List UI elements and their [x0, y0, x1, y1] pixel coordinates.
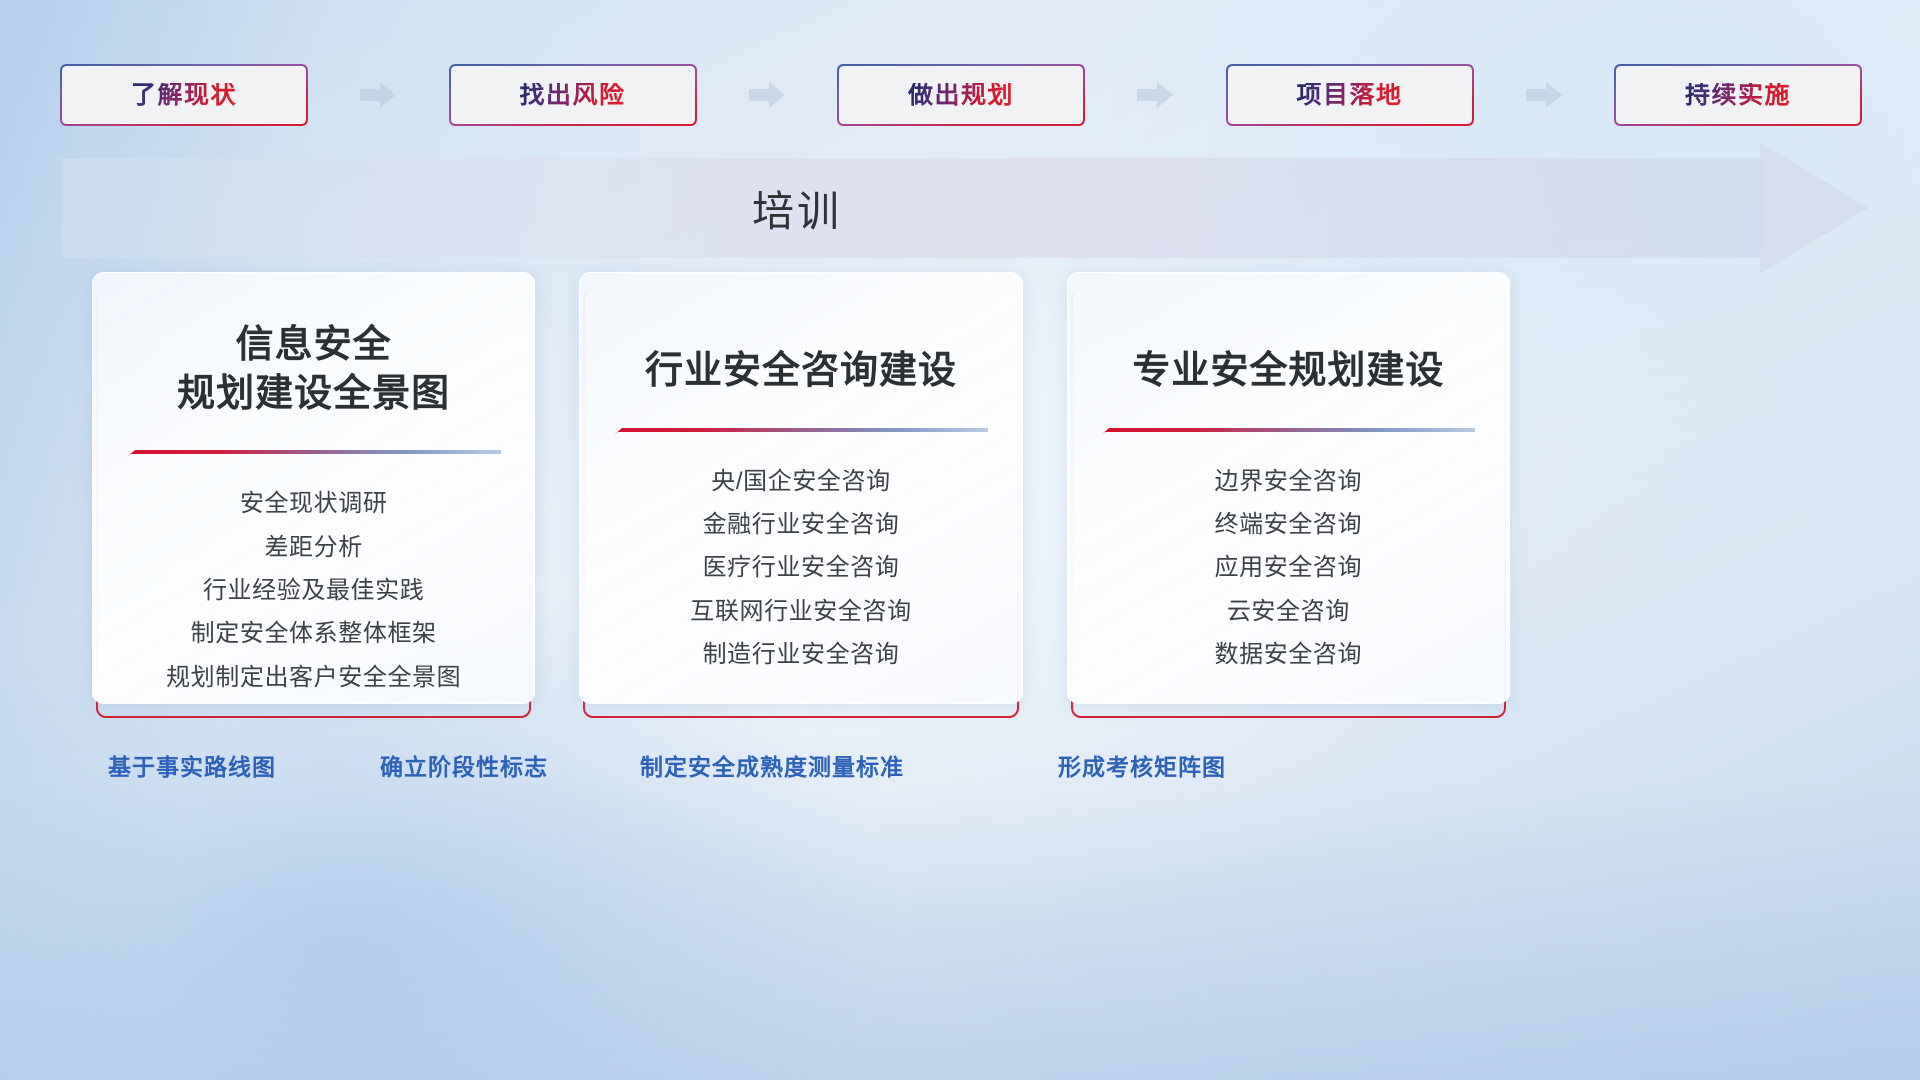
process-step-row: 了解现状 找出风险 做出规划: [60, 64, 1862, 126]
step-arrow-4: [1474, 82, 1615, 108]
footer-label-1: 基于事实路线图: [108, 748, 276, 782]
list-item: 制造行业安全咨询: [703, 639, 900, 671]
step-box-3[interactable]: 做出规划: [837, 64, 1085, 126]
arrow-right-icon: [1526, 82, 1562, 108]
slide-canvas: 了解现状 找出风险 做出规划: [0, 0, 1920, 1080]
gradient-wedge-divider: [127, 446, 501, 462]
card-3[interactable]: 专业安全规划建设: [1067, 272, 1510, 718]
list-item: 差距分析: [264, 532, 362, 564]
list-item: 行业经验及最佳实践: [203, 575, 424, 607]
step-label: 了解现状: [131, 83, 237, 108]
card-2[interactable]: 行业安全咨询建设: [579, 272, 1022, 718]
card-item-list: 央/国企安全咨询 金融行业安全咨询 医疗行业安全咨询 互联网行业安全咨询 制造行…: [608, 466, 993, 672]
card-title-line: 专业安全规划建设: [1132, 347, 1444, 396]
footer-label-2: 确立阶段性标志: [380, 748, 548, 782]
footer-label-4: 形成考核矩阵图: [1058, 748, 1226, 782]
footer-label-row: 基于事实路线图 确立阶段性标志 制定安全成熟度测量标准 形成考核矩阵图: [0, 748, 1920, 788]
banner-arrow-right-icon: [1760, 142, 1868, 274]
arrow-right-icon: [360, 82, 396, 108]
list-item: 互联网行业安全咨询: [690, 596, 911, 628]
list-item: 云安全咨询: [1227, 596, 1350, 628]
card-item-list: 边界安全咨询 终端安全咨询 应用安全咨询 云安全咨询 数据安全咨询: [1096, 466, 1481, 672]
step-box-4[interactable]: 项目落地: [1226, 64, 1474, 126]
gradient-wedge-divider: [614, 424, 988, 440]
list-item: 数据安全咨询: [1215, 639, 1363, 671]
card-row: 信息安全 规划建设全景图: [92, 272, 1510, 718]
list-item: 央/国企安全咨询: [711, 466, 890, 498]
card-panel: 信息安全 规划建设全景图: [92, 272, 535, 704]
card-title: 信息安全 规划建设全景图: [177, 321, 450, 418]
step-box-2[interactable]: 找出风险: [449, 64, 697, 126]
card-1[interactable]: 信息安全 规划建设全景图: [92, 272, 535, 718]
step-box-1[interactable]: 了解现状: [60, 64, 308, 126]
card-item-list: 安全现状调研 差距分析 行业经验及最佳实践 制定安全体系整体框架 规划制定出客户…: [121, 488, 506, 694]
card-title-line: 信息安全: [177, 321, 450, 370]
list-item: 边界安全咨询: [1215, 466, 1363, 498]
list-item: 金融行业安全咨询: [703, 509, 900, 541]
footer-label-3: 制定安全成熟度测量标准: [640, 748, 904, 782]
step-label: 做出规划: [908, 83, 1014, 108]
step-arrow-2: [697, 82, 838, 108]
list-item: 医疗行业安全咨询: [703, 552, 900, 584]
training-banner: 培训: [62, 158, 1862, 258]
list-item: 规划制定出客户安全全景图: [166, 662, 461, 694]
banner-label: 培训: [62, 158, 1532, 258]
step-label: 找出风险: [519, 83, 625, 108]
list-item: 应用安全咨询: [1215, 552, 1363, 584]
step-arrow-3: [1085, 82, 1226, 108]
list-item: 安全现状调研: [240, 488, 388, 520]
arrow-right-icon: [1137, 82, 1173, 108]
list-item: 制定安全体系整体框架: [191, 618, 437, 650]
card-title: 专业安全规划建设: [1132, 347, 1444, 396]
arrow-right-icon: [749, 82, 785, 108]
card-panel: 行业安全咨询建设: [579, 272, 1022, 704]
card-title: 行业安全咨询建设: [645, 347, 957, 396]
list-item: 终端安全咨询: [1215, 509, 1363, 541]
gradient-wedge-divider: [1101, 424, 1475, 440]
card-panel: 专业安全规划建设: [1067, 272, 1510, 704]
step-label: 项目落地: [1296, 83, 1402, 108]
card-title-line: 行业安全咨询建设: [645, 347, 957, 396]
step-arrow-1: [308, 82, 449, 108]
step-box-5[interactable]: 持续实施: [1614, 64, 1862, 126]
card-title-line: 规划建设全景图: [177, 370, 450, 419]
step-label: 持续实施: [1685, 83, 1791, 108]
